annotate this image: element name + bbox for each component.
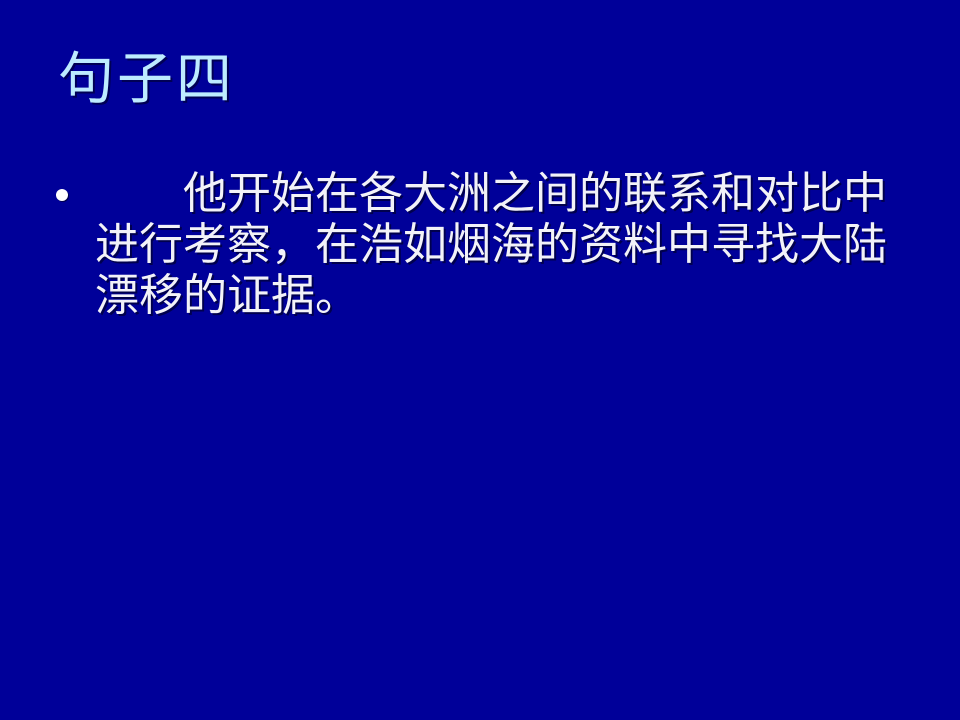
bullet-item-text: 他开始在各大洲之间的联系和对比中进行考察，在浩如烟海的资料中寻找大陆漂移的证据。 — [95, 168, 926, 321]
bullet-disc-icon — [56, 189, 68, 201]
presentation-slide: 句子四 他开始在各大洲之间的联系和对比中进行考察，在浩如烟海的资料中寻找大陆漂移… — [0, 0, 960, 720]
slide-body-bullet-list: 他开始在各大洲之间的联系和对比中进行考察，在浩如烟海的资料中寻找大陆漂移的证据。 — [46, 168, 926, 321]
bullet-list-item: 他开始在各大洲之间的联系和对比中进行考察，在浩如烟海的资料中寻找大陆漂移的证据。 — [46, 168, 926, 321]
slide-title: 句子四 — [58, 48, 898, 112]
